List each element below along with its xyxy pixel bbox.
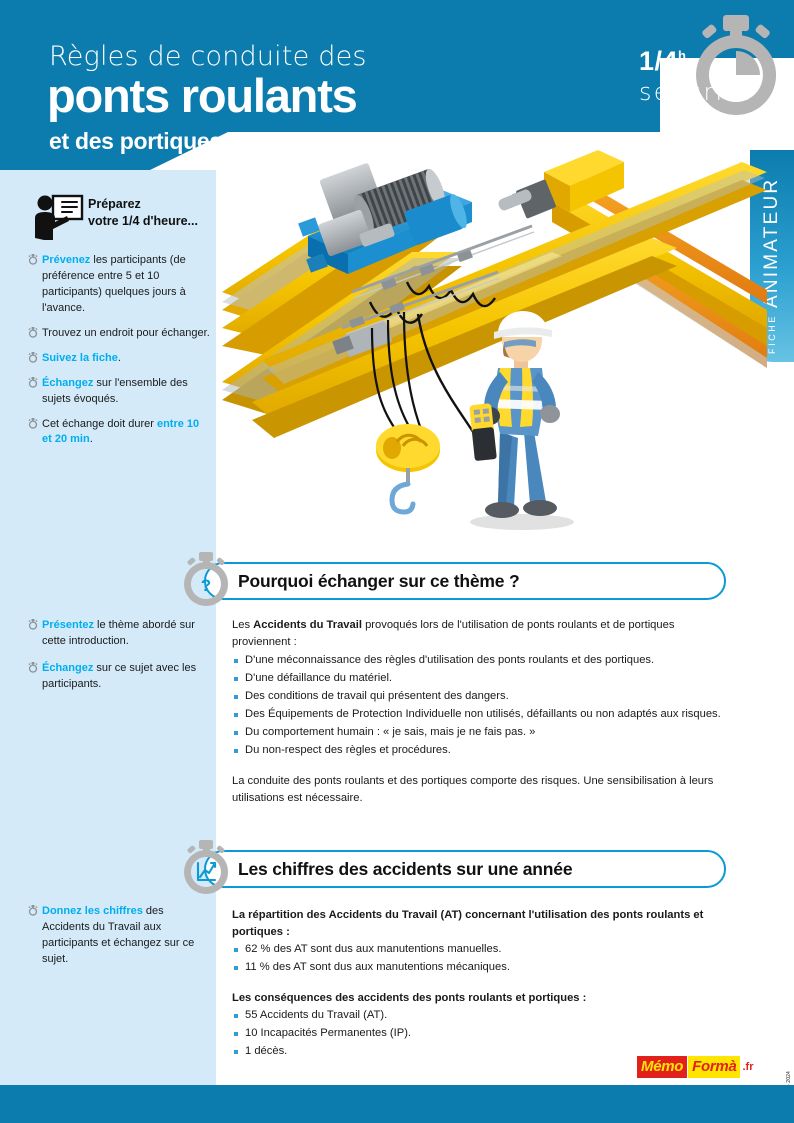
section2-group2-bullets: 55 Accidents du Travail (AT).10 Incapaci… bbox=[232, 1007, 724, 1060]
list-item: Des Équipements de Protection Individuel… bbox=[232, 706, 724, 723]
bullet-text: . bbox=[118, 352, 121, 364]
stopwatch-icon bbox=[686, 11, 786, 126]
logo-memo: Mémo bbox=[637, 1056, 687, 1078]
highlight-text: Échangez bbox=[42, 662, 93, 674]
section2-group1-bullets: 62 % des AT sont dus aux manutentions ma… bbox=[232, 941, 724, 976]
prepare-header: Préparez votre 1/4 d'heure... bbox=[32, 194, 212, 246]
stopwatch-chart-icon bbox=[180, 838, 232, 894]
section2-group2-title: Les conséquences des accidents des ponts… bbox=[232, 990, 724, 1007]
list-item: Trouvez un endroit pour échanger. bbox=[28, 326, 210, 342]
stopwatch-bullet-icon bbox=[28, 327, 38, 338]
header-title-line3: et des portiques bbox=[49, 128, 222, 155]
list-item: Du comportement humain : « je sais, mais… bbox=[232, 724, 724, 741]
list-item: Cet échange doit durer entre 10 et 20 mi… bbox=[28, 417, 210, 449]
overhead-crane-illustration: 5000 Kg bbox=[222, 132, 767, 537]
bullet-text: Cet échange doit durer bbox=[42, 418, 157, 430]
svg-text:?: ? bbox=[201, 576, 211, 595]
side-tab-small-label: FICHE bbox=[767, 314, 777, 354]
list-item: 55 Accidents du Travail (AT). bbox=[232, 1007, 724, 1024]
stopwatch-bullet-icon bbox=[28, 377, 38, 388]
list-item: Donnez les chiffres des Accidents du Tra… bbox=[28, 904, 210, 968]
list-item: Suivez la fiche. bbox=[28, 351, 210, 367]
highlight-text: Présentez bbox=[42, 619, 94, 631]
section2-body: La répartition des Accidents du Travail … bbox=[232, 907, 724, 1061]
section1-body: Les Accidents du Travail provoqués lors … bbox=[232, 617, 724, 807]
highlight-text: Suivez la fiche bbox=[42, 352, 118, 364]
bullet-text: . bbox=[90, 433, 93, 445]
header-title-line1: Règles de conduite des bbox=[49, 41, 367, 72]
prepare-bullet-list: Prévenez les participants (de préférence… bbox=[28, 253, 210, 457]
stopwatch-question-icon: ? bbox=[180, 550, 232, 606]
logo-tld: .fr bbox=[742, 1061, 753, 1073]
stopwatch-bullet-icon bbox=[28, 619, 38, 630]
list-item: D'une défaillance du matériel. bbox=[232, 670, 724, 687]
highlight-text: Prévenez bbox=[42, 254, 90, 266]
stopwatch-bullet-icon bbox=[28, 418, 38, 429]
section2-title: Les chiffres des accidents sur une année bbox=[238, 859, 572, 880]
list-item: Échangez sur l'ensemble des sujets évoqu… bbox=[28, 376, 210, 408]
stopwatch-bullet-icon bbox=[28, 662, 38, 673]
memoforma-logo: MémoFormà.fr bbox=[637, 1056, 753, 1077]
quarter-hour-badge: 1/4h sécurité bbox=[636, 12, 786, 122]
stopwatch-bullet-icon bbox=[28, 905, 38, 916]
logo-forma: Formà bbox=[688, 1056, 740, 1078]
document-page: Règles de conduite des ponts roulants et… bbox=[0, 0, 794, 1123]
highlight-text: Échangez bbox=[42, 377, 93, 389]
footer-bar bbox=[0, 1085, 794, 1123]
list-item: Du non-respect des règles et procédures. bbox=[232, 742, 724, 759]
stopwatch-bullet-icon bbox=[28, 352, 38, 363]
page-title: ponts roulants bbox=[47, 72, 357, 119]
section1-bullets: D'une méconnaissance des règles d'utilis… bbox=[232, 652, 724, 759]
highlight-text: Donnez les chiffres bbox=[42, 905, 143, 917]
presenter-icon bbox=[32, 194, 84, 240]
section2-group1-title: La répartition des Accidents du Travail … bbox=[232, 907, 724, 941]
stopwatch-bullet-icon bbox=[28, 254, 38, 265]
list-item: D'une méconnaissance des règles d'utilis… bbox=[232, 652, 724, 669]
sidebar-notes-section1: Présentez le thème abordé sur cette intr… bbox=[28, 618, 210, 704]
list-item: 10 Incapacités Permanentes (IP). bbox=[232, 1025, 724, 1042]
list-item: Échangez sur ce sujet avec les participa… bbox=[28, 661, 210, 693]
list-item: Présentez le thème abordé sur cette intr… bbox=[28, 618, 210, 650]
section2-heading: Les chiffres des accidents sur une année bbox=[180, 850, 750, 890]
sidebar-notes-section2: Donnez les chiffres des Accidents du Tra… bbox=[28, 904, 210, 979]
section1-closing: La conduite des ponts roulants et des po… bbox=[232, 773, 724, 807]
list-item: Des conditions de travail qui présentent… bbox=[232, 688, 724, 705]
section1-lead: Les Accidents du Travail provoqués lors … bbox=[232, 617, 724, 651]
section1-title: Pourquoi échanger sur ce thème ? bbox=[238, 571, 519, 592]
prepare-title: Préparez votre 1/4 d'heure... bbox=[88, 196, 198, 230]
bullet-text: Trouvez un endroit pour échanger. bbox=[42, 327, 210, 339]
list-item: 62 % des AT sont dus aux manutentions ma… bbox=[232, 941, 724, 958]
list-item: 11 % des AT sont dus aux manutentions mé… bbox=[232, 959, 724, 976]
badge-time: 1/4h bbox=[639, 46, 687, 77]
section1-heading: ? Pourquoi échanger sur ce thème ? bbox=[180, 562, 750, 602]
list-item: Prévenez les participants (de préférence… bbox=[28, 253, 210, 317]
badge-label: sécurité bbox=[639, 78, 753, 106]
